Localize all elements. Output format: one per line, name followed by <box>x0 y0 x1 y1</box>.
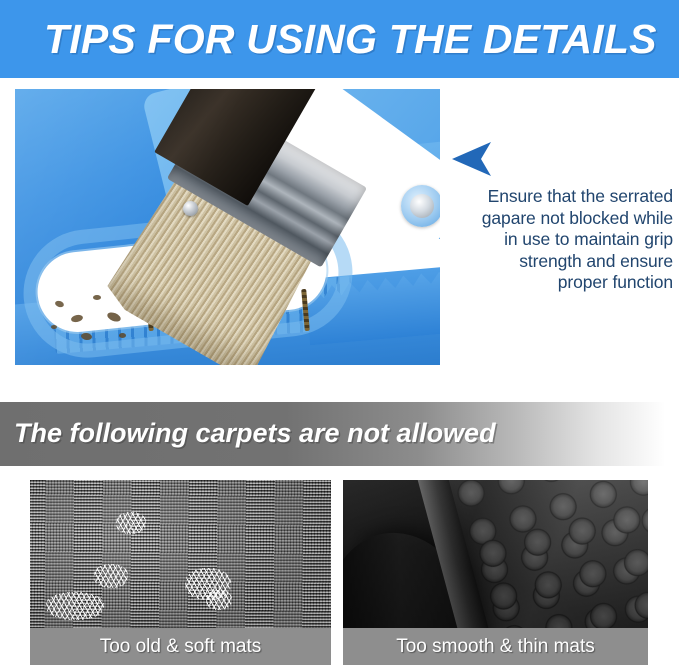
arrow-left-icon <box>452 142 492 176</box>
rubber-mat-photo <box>343 480 648 628</box>
panel-smooth-thin-mats: Too smooth & thin mats <box>343 480 648 665</box>
page-title: TIPS FOR USING THE DETAILS <box>44 13 657 65</box>
callout-line: proper function <box>430 272 673 294</box>
gray-banner-title: The following carpets are not allowed <box>14 415 496 451</box>
panel-old-soft-mats: Too old & soft mats <box>30 480 331 665</box>
panel-caption: Too old & soft mats <box>30 628 331 665</box>
panel-caption: Too smooth & thin mats <box>343 628 648 665</box>
callout-line: gapare not blocked while <box>430 208 673 230</box>
carpet-fuzz <box>116 512 146 534</box>
gray-banner: The following carpets are not allowed <box>0 402 679 466</box>
carpet-fuzz <box>46 592 104 620</box>
callout-line: strength and ensure <box>430 251 673 273</box>
header-banner: TIPS FOR USING THE DETAILS <box>0 0 679 78</box>
dirt-speck <box>51 325 57 329</box>
dirt-speck <box>93 295 101 300</box>
carpet-fuzz <box>94 564 128 588</box>
dirt-speck <box>119 333 126 338</box>
carpet-fuzz <box>206 590 232 610</box>
callout-text: Ensure that the serrated gapare not bloc… <box>430 186 673 294</box>
ferrule-rivet <box>183 201 198 216</box>
carpet-photo <box>30 480 331 628</box>
tips-photo <box>15 89 440 365</box>
callout-line: in use to maintain grip <box>430 229 673 251</box>
rubber-shading <box>343 480 648 628</box>
callout-line: Ensure that the serrated <box>430 186 673 208</box>
